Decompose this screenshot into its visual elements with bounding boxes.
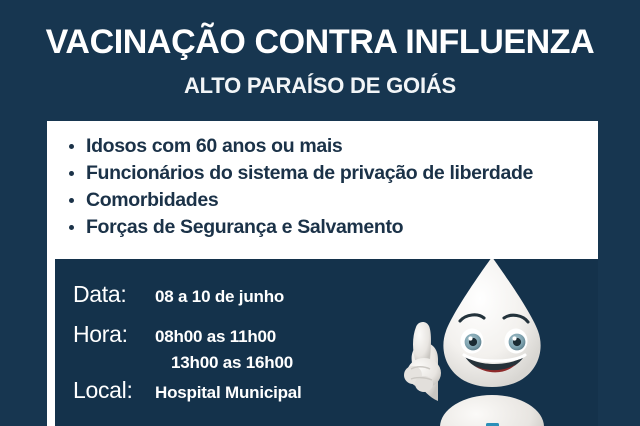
schedule-row-place: Local: Hospital Municipal <box>73 377 403 404</box>
schedule-panel: Data: 08 a 10 de junho Hora: 08h00 as 11… <box>55 259 598 426</box>
list-item-label: Idosos com 60 anos ou mais <box>86 135 342 157</box>
list-item: Forças de Segurança e Salvamento <box>65 214 598 241</box>
list-item: Comorbidades <box>65 187 598 214</box>
bullet-dot-icon <box>69 198 74 203</box>
list-item-label: Comorbidades <box>86 189 218 211</box>
schedule-row-time-second: 13h00 as 16h00 <box>73 353 403 373</box>
poster-header: VACINAÇÃO CONTRA INFLUENZA ALTO PARAÍSO … <box>0 0 640 116</box>
page-title: VACINAÇÃO CONTRA INFLUENZA <box>0 22 640 62</box>
bullet-dot-icon <box>69 171 74 176</box>
mascot-droplet-icon <box>380 259 598 426</box>
list-item-label: Funcionários do sistema de privação de l… <box>86 162 533 184</box>
schedule-row-date: Data: 08 a 10 de junho <box>73 281 403 308</box>
list-item-label: Forças de Segurança e Salvamento <box>86 216 403 238</box>
eligibility-list: Idosos com 60 anos ou mais Funcionários … <box>47 121 598 241</box>
time-label: Hora: <box>73 321 149 348</box>
list-item: Idosos com 60 anos ou mais <box>65 133 598 160</box>
list-item: Funcionários do sistema de privação de l… <box>65 160 598 187</box>
place-label: Local: <box>73 377 149 404</box>
vaccination-campaign-poster: VACINAÇÃO CONTRA INFLUENZA ALTO PARAÍSO … <box>0 0 640 426</box>
time-value-morning: 08h00 as 11h00 <box>149 327 276 347</box>
bullet-dot-icon <box>69 225 74 230</box>
date-value: 08 a 10 de junho <box>149 287 284 307</box>
page-subtitle: ALTO PARAÍSO DE GOIÁS <box>0 72 640 100</box>
bullet-dot-icon <box>69 144 74 149</box>
schedule-row-time: Hora: 08h00 as 11h00 <box>73 321 403 348</box>
eligibility-card: Idosos com 60 anos ou mais Funcionários … <box>47 121 598 426</box>
schedule-rows: Data: 08 a 10 de junho Hora: 08h00 as 11… <box>73 281 403 404</box>
time-value-afternoon: 13h00 as 16h00 <box>149 353 293 373</box>
place-value: Hospital Municipal <box>149 383 302 403</box>
date-label: Data: <box>73 281 149 308</box>
